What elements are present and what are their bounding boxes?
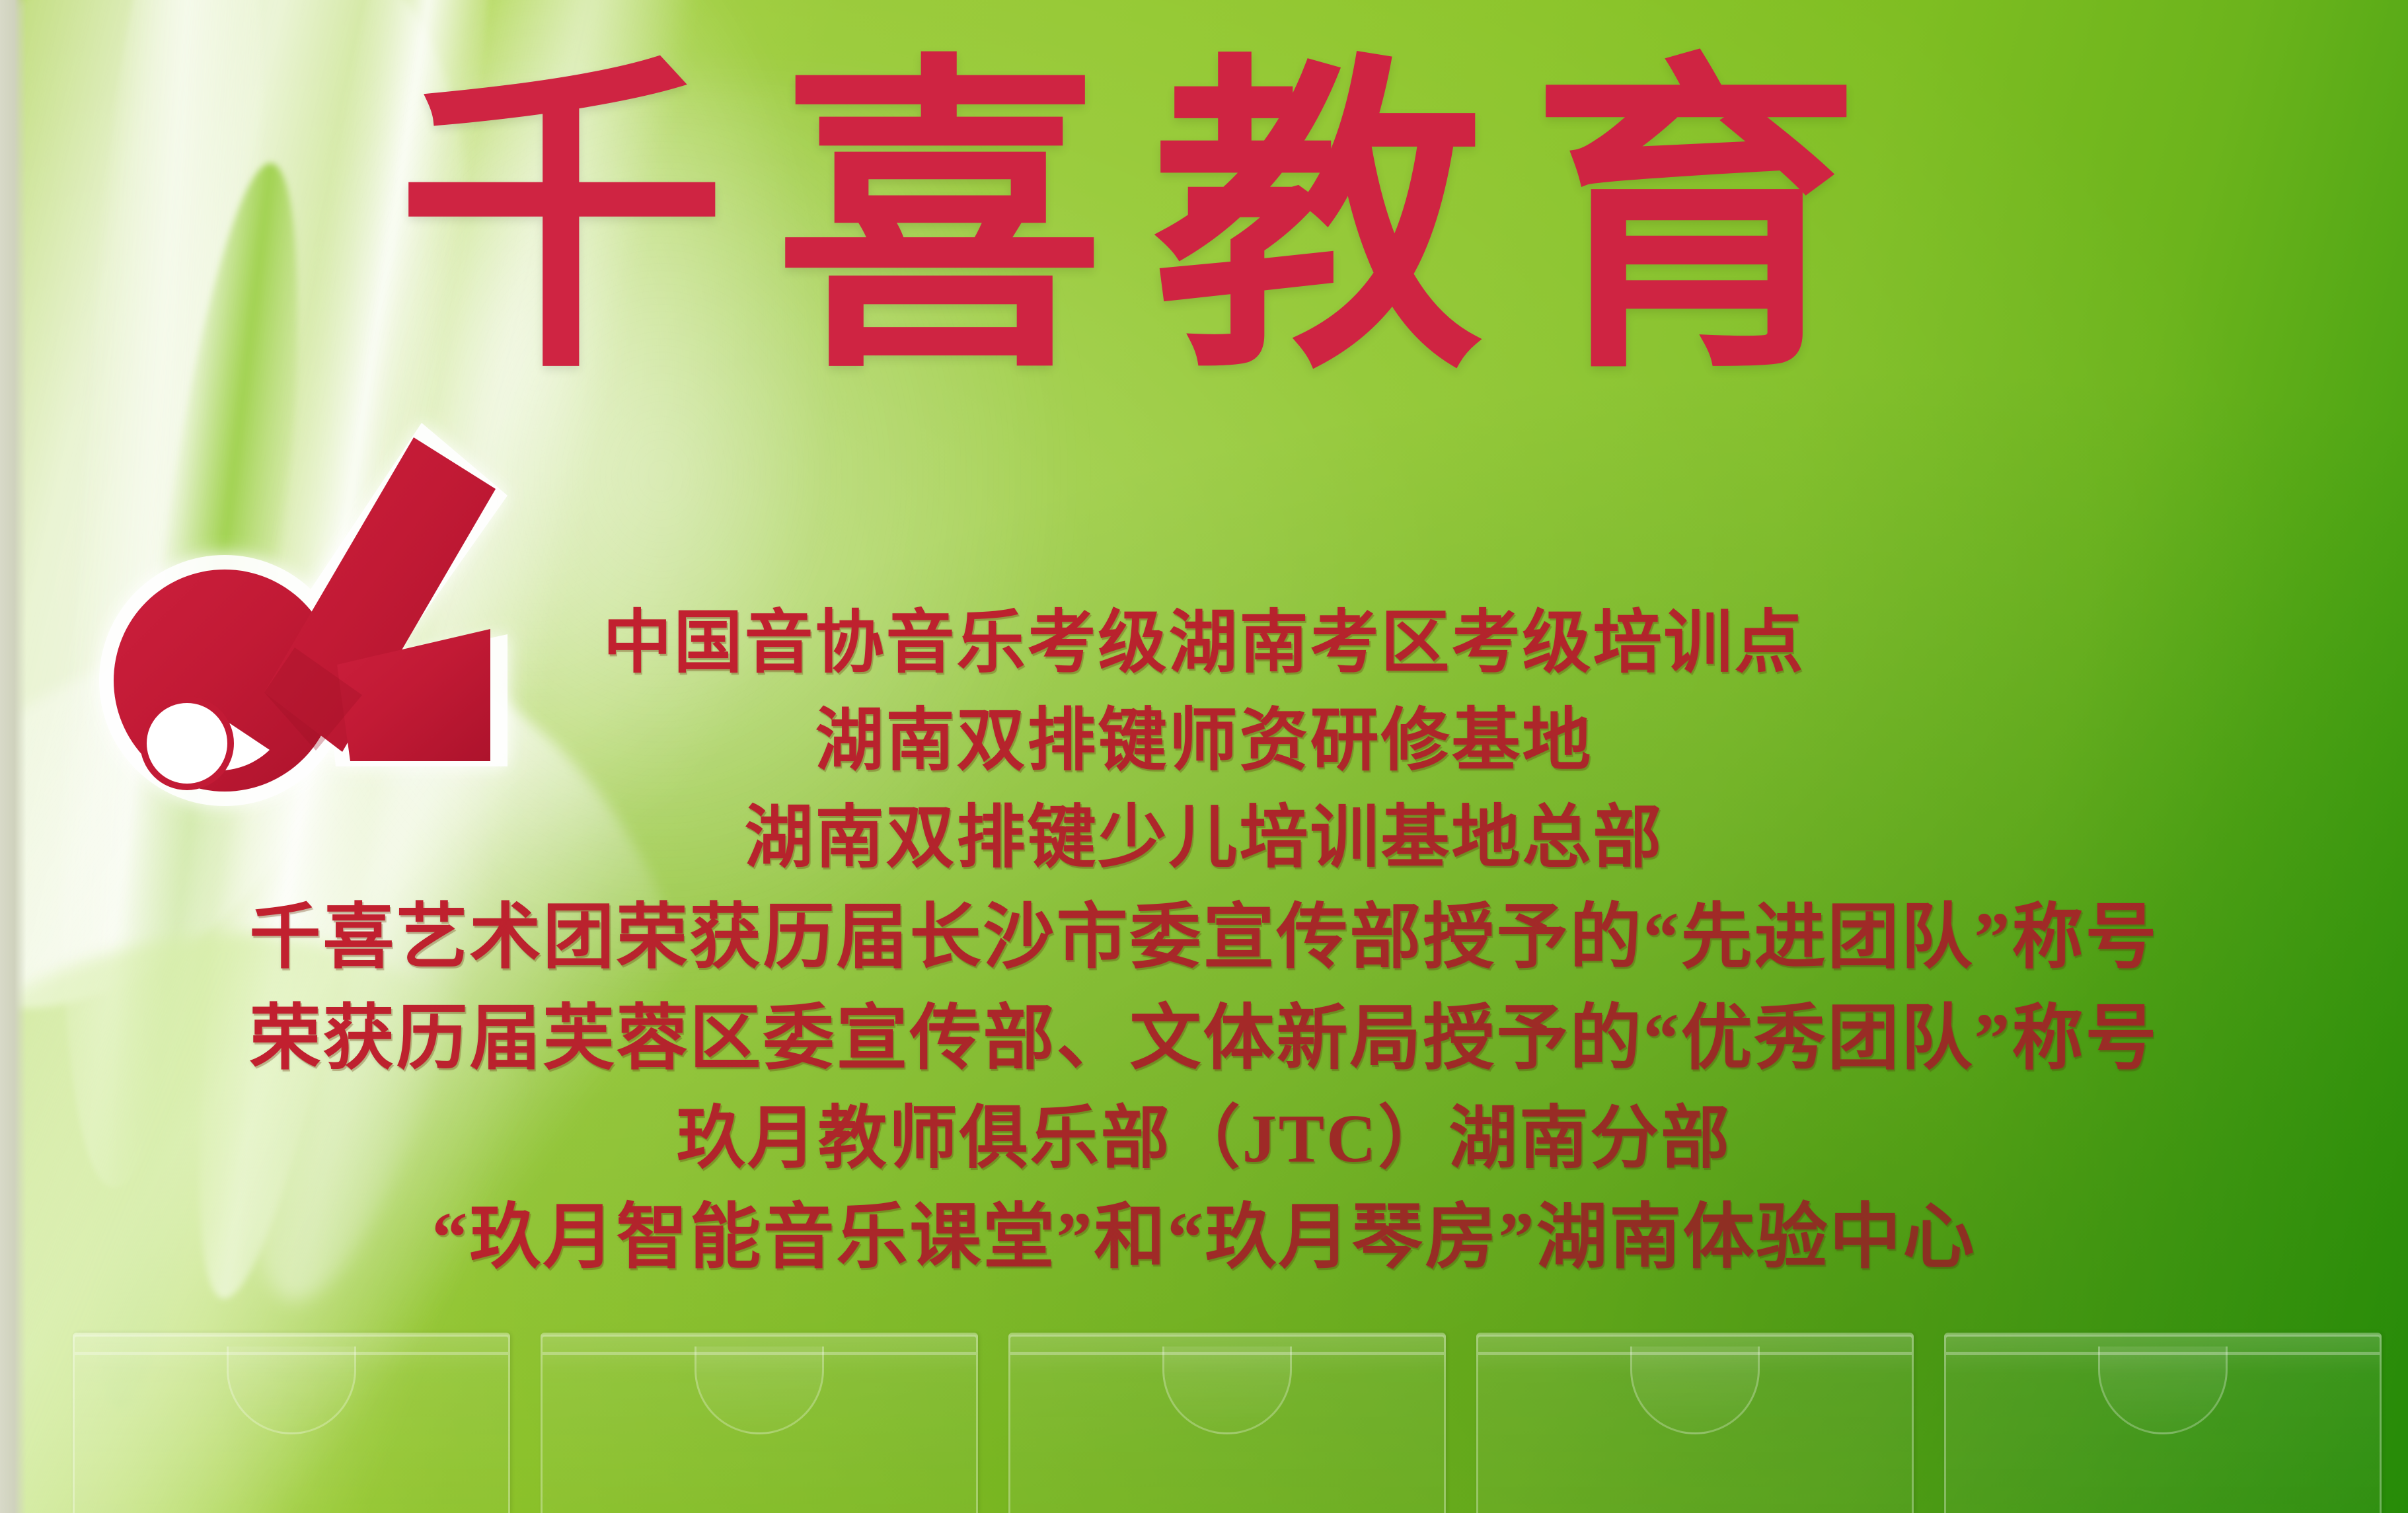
brochure-holder[interactable]	[541, 1333, 978, 1513]
brochure-holder[interactable]	[1008, 1333, 1446, 1513]
credential-line: 荣获历届芙蓉区委宣传部、文体新局授予的“优秀团队”称号	[0, 988, 2408, 1089]
holder-notch	[1162, 1347, 1292, 1434]
holder-notch	[1630, 1347, 1760, 1434]
brochure-holder[interactable]	[1944, 1333, 2382, 1513]
credential-line: 湖南双排键师资研修基地	[0, 692, 2408, 790]
credential-line: 湖南双排键少儿培训基地总部	[0, 790, 2408, 887]
credential-line: 中国音协音乐考级湖南考区考级培训点	[0, 595, 2408, 692]
brochure-holder-row	[0, 1295, 2408, 1513]
brochure-holder[interactable]	[1476, 1333, 1914, 1513]
page-title: 千喜教育	[396, 58, 2062, 388]
credentials-list: 中国音协音乐考级湖南考区考级培训点 湖南双排键师资研修基地 湖南双排键少儿培训基…	[0, 595, 2408, 1289]
holder-notch	[227, 1347, 356, 1434]
holder-notch	[2098, 1347, 2228, 1434]
credential-line: 千喜艺术团荣获历届长沙市委宣传部授予的“先进团队”称号	[0, 887, 2408, 988]
holder-notch	[695, 1347, 824, 1434]
credential-line: 玖月教师俱乐部（JTC）湖南分部	[0, 1090, 2408, 1188]
signboard-wall: 千喜教育 中国音协音乐考级湖南考区考级培训点 湖南双排键师资研修基地 湖南双排键…	[0, 0, 2408, 1513]
credential-line: “玖月智能音乐课堂”和“玖月琴房”湖南体验中心	[0, 1187, 2408, 1288]
brochure-holder[interactable]	[73, 1333, 510, 1513]
